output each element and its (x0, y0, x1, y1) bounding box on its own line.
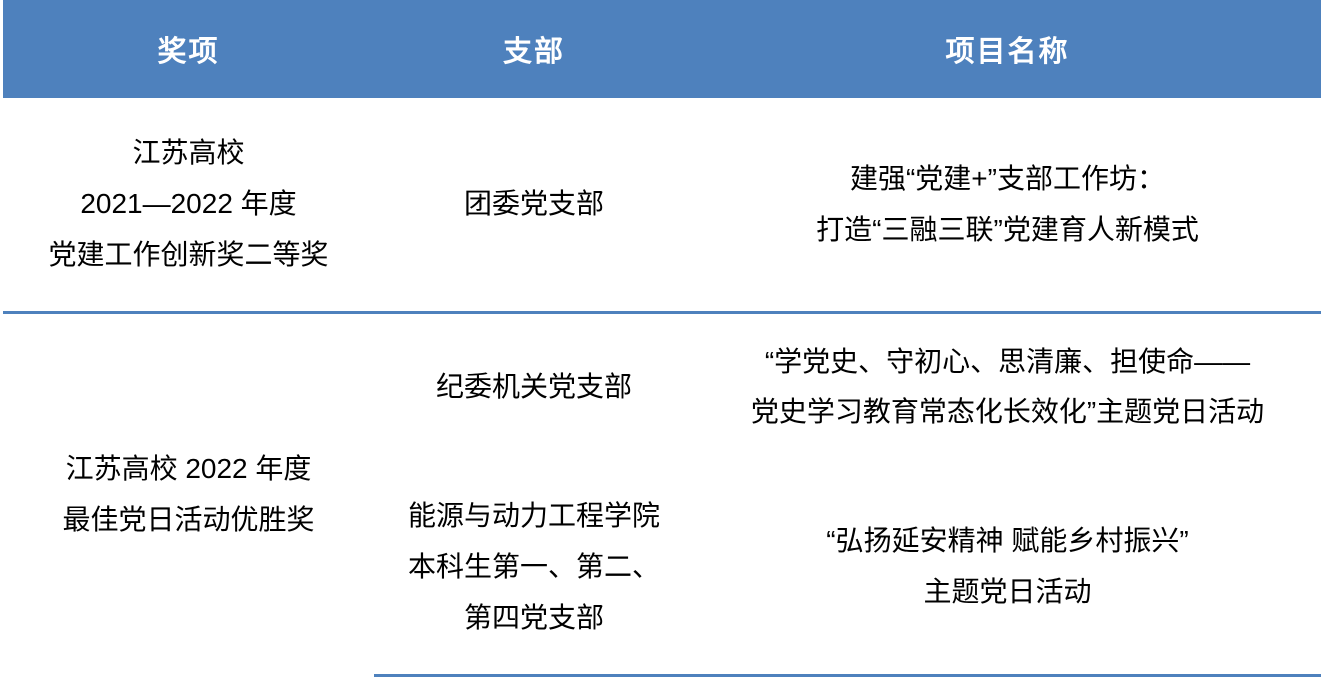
award-line: 2021—2022 年度 (9, 179, 368, 230)
branch-line: 团委党支部 (380, 179, 688, 230)
branch-line: 第四党支部 (380, 593, 688, 644)
column-header-award: 奖项 (3, 0, 374, 98)
table-row: 江苏高校 2021—2022 年度 党建工作创新奖二等奖 团委党支部 建强“党建… (3, 98, 1321, 313)
branch-line: 本科生第一、第二、 (380, 542, 688, 593)
project-line: “弘扬延安精神 赋能乡村振兴” (700, 516, 1315, 567)
award-line: 江苏高校 2022 年度 (9, 444, 368, 495)
project-line: “学党史、守初心、思清廉、担使命—— (700, 337, 1315, 388)
award-line: 最佳党日活动优胜奖 (9, 495, 368, 546)
project-line: 主题党日活动 (700, 567, 1315, 618)
cell-branch-2: 纪委机关党支部 (374, 313, 694, 461)
award-line: 党建工作创新奖二等奖 (9, 230, 368, 281)
award-table: 奖项 支部 项目名称 江苏高校 2021—2022 年度 党建工作创新奖二等奖 … (3, 0, 1321, 677)
branch-line: 纪委机关党支部 (380, 362, 688, 413)
column-header-branch: 支部 (374, 0, 694, 98)
header-row: 奖项 支部 项目名称 (3, 0, 1321, 98)
cell-award-2: 江苏高校 2022 年度 最佳党日活动优胜奖 (3, 313, 374, 676)
column-header-project: 项目名称 (694, 0, 1321, 98)
table-body: 江苏高校 2021—2022 年度 党建工作创新奖二等奖 团委党支部 建强“党建… (3, 98, 1321, 676)
table-row: 江苏高校 2022 年度 最佳党日活动优胜奖 纪委机关党支部 “学党史、守初心、… (3, 313, 1321, 461)
cell-branch-1: 团委党支部 (374, 98, 694, 313)
table-header: 奖项 支部 项目名称 (3, 0, 1321, 98)
cell-award-1: 江苏高校 2021—2022 年度 党建工作创新奖二等奖 (3, 98, 374, 313)
award-table-container: 奖项 支部 项目名称 江苏高校 2021—2022 年度 党建工作创新奖二等奖 … (0, 0, 1324, 681)
cell-branch-3: 能源与动力工程学院 本科生第一、第二、 第四党支部 (374, 461, 694, 676)
project-line: 建强“党建+”支部工作坊： (700, 154, 1315, 205)
branch-line: 能源与动力工程学院 (380, 491, 688, 542)
cell-project-2: “学党史、守初心、思清廉、担使命—— 党史学习教育常态化长效化”主题党日活动 (694, 313, 1321, 461)
cell-project-3: “弘扬延安精神 赋能乡村振兴” 主题党日活动 (694, 461, 1321, 676)
award-line: 江苏高校 (9, 128, 368, 179)
project-line: 党史学习教育常态化长效化”主题党日活动 (700, 387, 1315, 438)
project-line: 打造“三融三联”党建育人新模式 (700, 205, 1315, 256)
cell-project-1: 建强“党建+”支部工作坊： 打造“三融三联”党建育人新模式 (694, 98, 1321, 313)
